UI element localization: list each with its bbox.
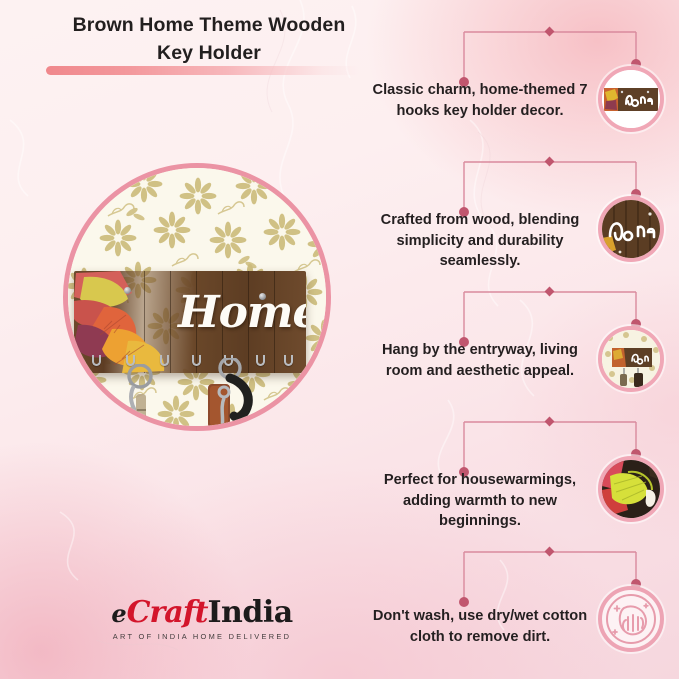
title-underline-rule [46, 66, 360, 75]
brand-logo-wordmark: eCraftIndia [88, 598, 316, 628]
brand-logo-india: India [208, 595, 293, 630]
feature-row-1: Classic charm, home-themed 7 hooks key h… [360, 22, 679, 152]
feature-text-4: Perfect for housewarmings, adding warmth… [366, 470, 594, 532]
infographic-canvas: Brown Home Theme Wooden Key Holder [0, 0, 679, 679]
thumbnail-key-holder-closeup [598, 66, 664, 132]
feature-text-3: Hang by the entryway, living room and ae… [366, 340, 594, 381]
thumbnail-mounted-on-wall [598, 326, 664, 392]
feature-row-3: Hang by the entryway, living room and ae… [360, 282, 679, 412]
product-hero-image: Home [63, 163, 331, 431]
hanging-keys-left [116, 364, 176, 431]
page-title-line-2: Key Holder [44, 40, 374, 68]
page-title-line-1: Brown Home Theme Wooden [44, 12, 374, 40]
feature-text-1: Classic charm, home-themed 7 hooks key h… [366, 80, 594, 121]
brand-tagline: ART OF INDIA HOME DELIVERED [88, 632, 316, 641]
brand-logo-e: e [111, 599, 126, 628]
feature-row-2: Crafted from wood, blending simplicity a… [360, 152, 679, 282]
board-home-script: Home [178, 287, 302, 338]
thumbnail-leaf-detail [598, 456, 664, 522]
hand-wipe-icon [602, 590, 660, 648]
thumbnail-cleaning-care-icon [598, 586, 664, 652]
page-title: Brown Home Theme Wooden Key Holder [44, 12, 374, 67]
feature-row-4: Perfect for housewarmings, adding warmth… [360, 412, 679, 542]
wooden-key-holder-board: Home [74, 271, 306, 373]
thumbnail-wood-texture [598, 196, 664, 262]
hanging-keys-right [194, 358, 266, 431]
brand-logo: eCraftIndia ART OF INDIA HOME DELIVERED [88, 598, 316, 641]
feature-text-5: Don't wash, use dry/wet cotton cloth to … [366, 606, 594, 647]
feature-text-2: Crafted from wood, blending simplicity a… [366, 210, 594, 272]
brand-logo-craft: Craft [127, 595, 208, 630]
feature-row-5: Don't wash, use dry/wet cotton cloth to … [360, 542, 679, 672]
